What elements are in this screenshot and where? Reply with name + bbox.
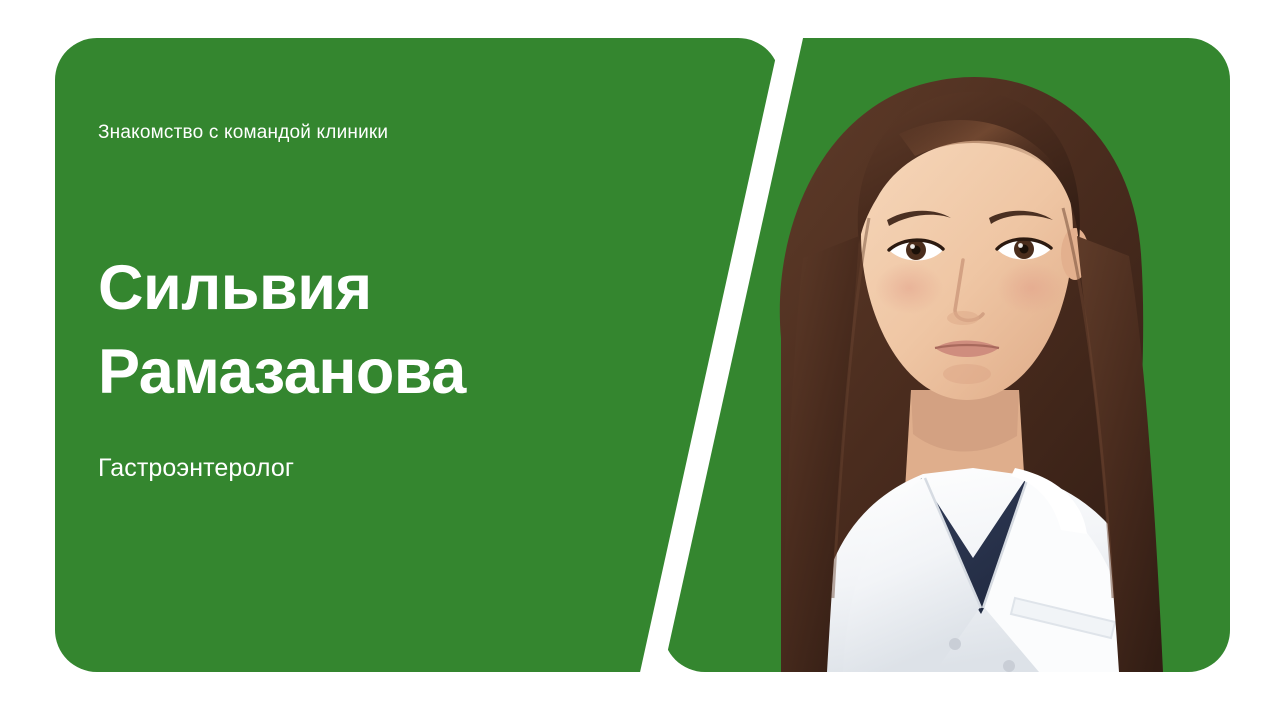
coat-button [1003,660,1015,672]
coat-button [949,638,961,650]
cheek-left [875,262,943,314]
text-block: Знакомство с командой клиники Сильвия Ра… [98,120,658,484]
doctor-last-name: Рамазанова [98,330,658,414]
eyebrow-label: Знакомство с командой клиники [98,120,658,146]
doctor-specialty: Гастроэнтеролог [98,452,658,484]
doctor-name: Сильвия Рамазанова [98,246,658,414]
slide-canvas: Знакомство с командой клиники Сильвия Ра… [0,0,1280,720]
doctor-first-name: Сильвия [98,246,658,330]
cheek-right [997,262,1065,314]
